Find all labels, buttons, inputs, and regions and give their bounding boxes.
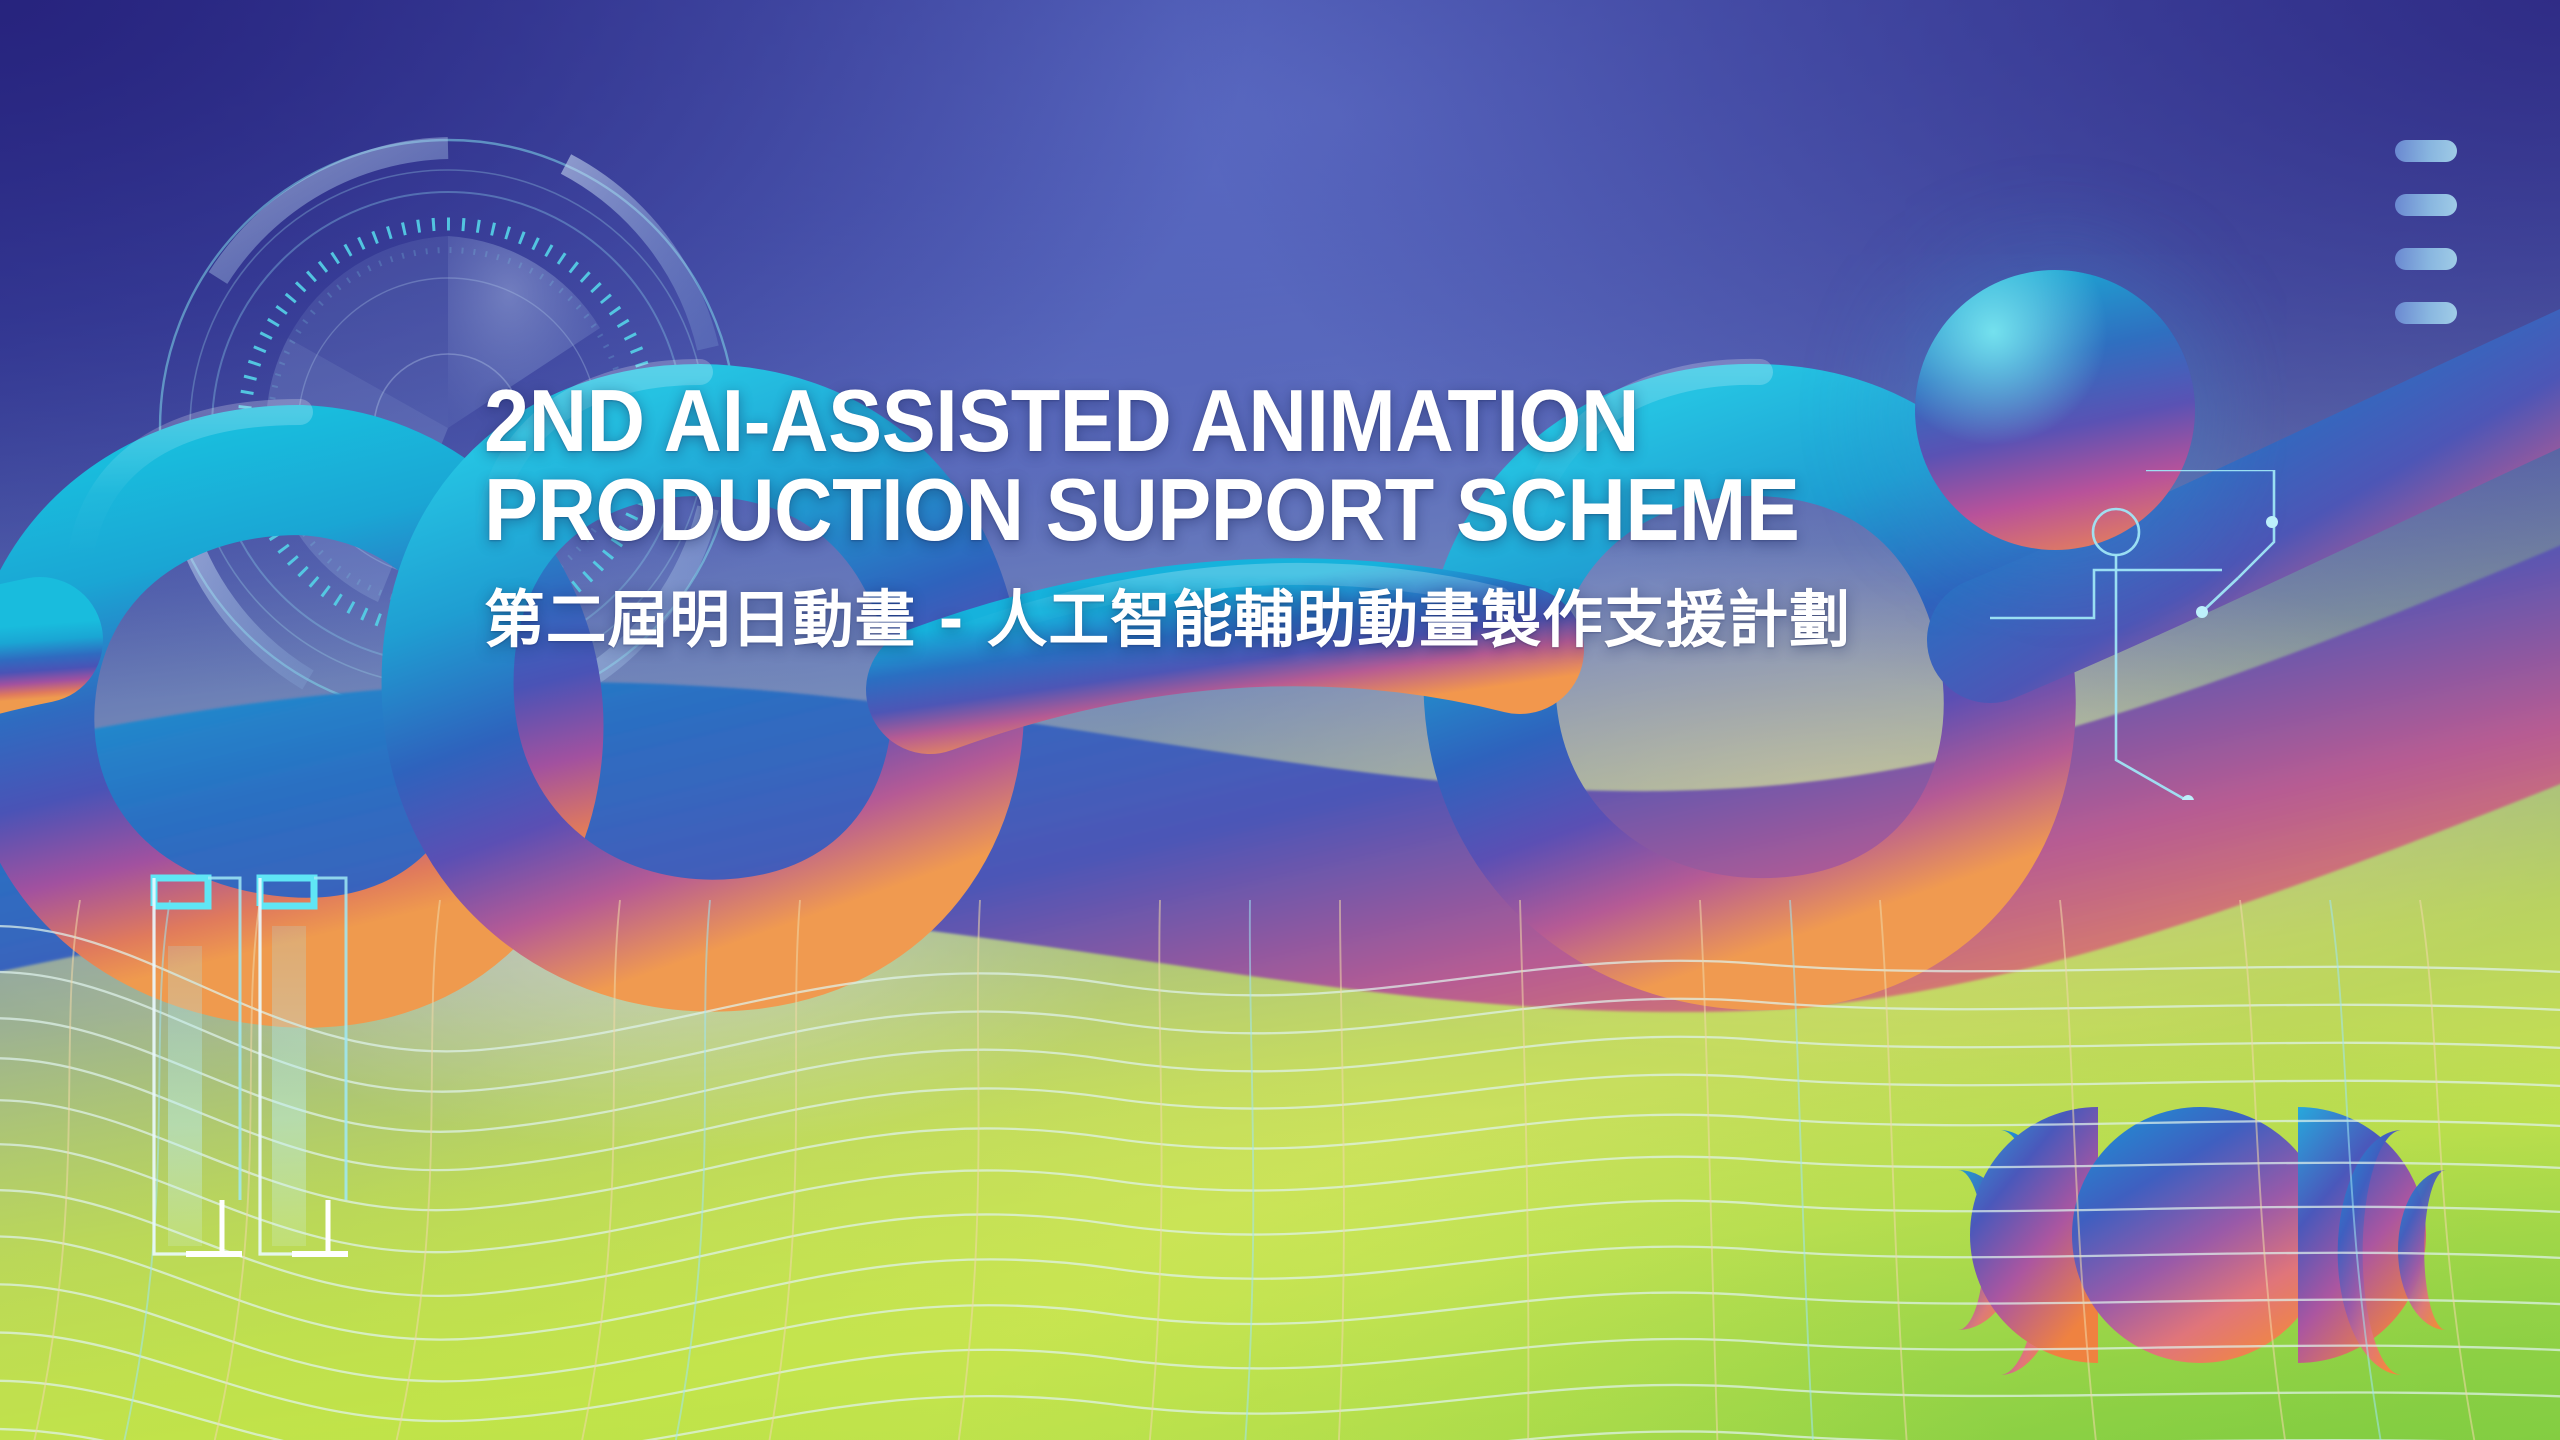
title-block: 2ND AI-ASSISTED ANIMATION PRODUCTION SUP… [484, 380, 2184, 659]
page-title-line-1: 2ND AI-ASSISTED ANIMATION [484, 380, 2048, 463]
page-title-line-2: PRODUCTION SUPPORT SCHEME [484, 469, 2048, 552]
pill-bar-3 [2395, 248, 2457, 270]
vertical-bracket-frames-icon [150, 870, 490, 1290]
banner-root: 2ND AI-ASSISTED ANIMATION PRODUCTION SUP… [0, 0, 2560, 1440]
pill-bar-1 [2395, 140, 2457, 162]
pill-bar-4 [2395, 302, 2457, 324]
page-subtitle-chinese: 第二屆明日動畫 - 人工智能輔助動畫製作支援計劃 [484, 569, 2150, 659]
pill-bar-group [2395, 140, 2515, 356]
pill-bar-2 [2395, 194, 2457, 216]
